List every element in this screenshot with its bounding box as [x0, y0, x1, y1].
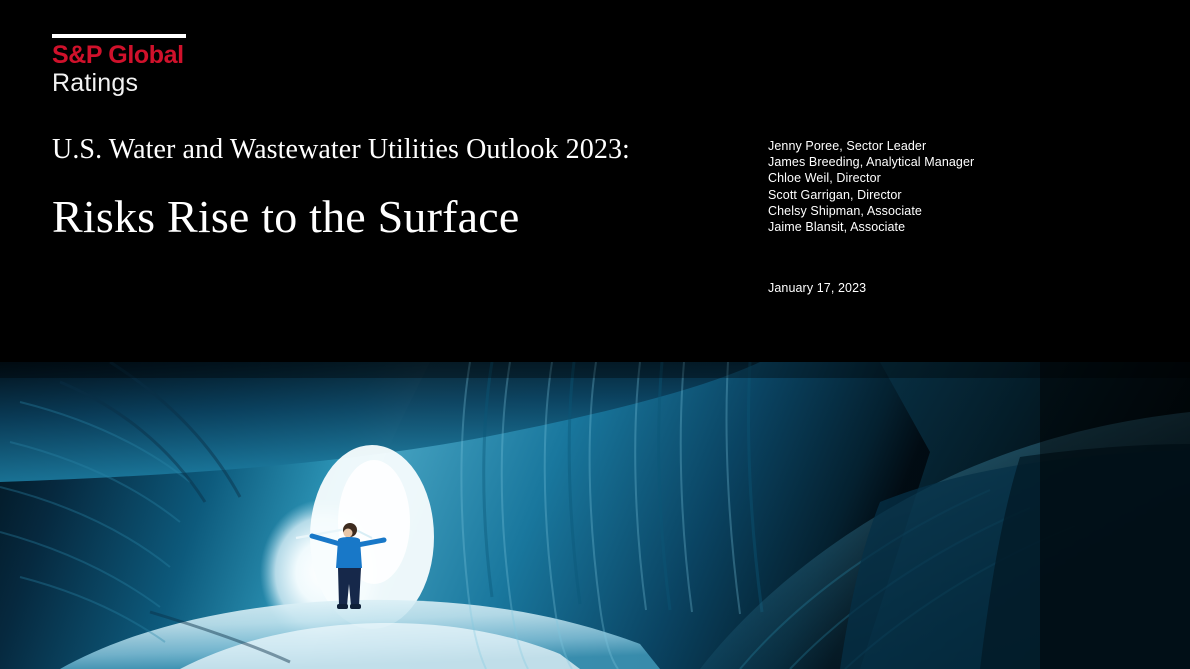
author-entry: Chloe Weil, Director: [768, 170, 1098, 186]
author-list: Jenny Poree, Sector Leader James Breedin…: [768, 138, 1098, 235]
title-slide: S&P Global Ratings U.S. Water and Wastew…: [0, 0, 1190, 669]
author-entry: James Breeding, Analytical Manager: [768, 154, 1098, 170]
logo-secondary-text: Ratings: [52, 69, 292, 99]
ice-cave-illustration: [0, 362, 1190, 669]
author-entry: Chelsy Shipman, Associate: [768, 203, 1098, 219]
publication-date: January 17, 2023: [768, 281, 866, 295]
logo-rule: [52, 34, 186, 38]
report-headline: Risks Rise to the Surface: [52, 192, 752, 243]
author-entry: Scott Garrigan, Director: [768, 187, 1098, 203]
ice-cave-photo: [0, 362, 1190, 669]
title-block: U.S. Water and Wastewater Utilities Outl…: [52, 134, 752, 243]
sp-global-ratings-logo: S&P Global Ratings: [52, 34, 292, 98]
author-entry: Jenny Poree, Sector Leader: [768, 138, 1098, 154]
author-entry: Jaime Blansit, Associate: [768, 219, 1098, 235]
logo-primary-text: S&P Global: [52, 43, 292, 69]
report-subtitle: U.S. Water and Wastewater Utilities Outl…: [52, 134, 752, 166]
